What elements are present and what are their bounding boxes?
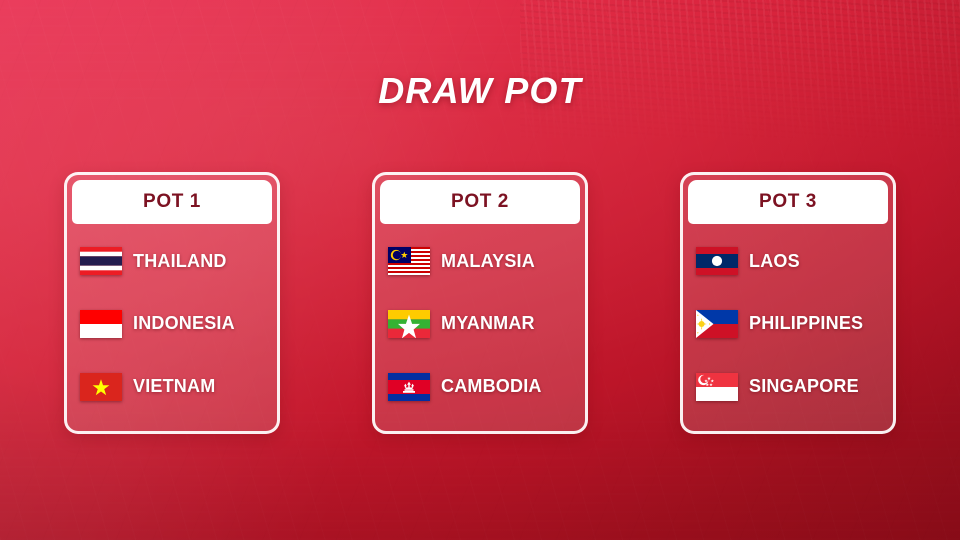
team-row: INDONESIA	[80, 301, 272, 347]
team-name: INDONESIA	[133, 313, 235, 334]
pot-card: POT 1 THAILAND INDONESIA VIETNAM	[64, 172, 280, 434]
slide-stage: DRAW POT POT 1 THAILAND INDONESIA VIETNA…	[0, 0, 960, 540]
pot-list: POT 1 THAILAND INDONESIA VIETNAMPOT 2	[0, 172, 960, 434]
pot-card: POT 2 MALAYSIA MYANMAR	[372, 172, 588, 434]
page-title: DRAW POT	[0, 70, 960, 112]
flag-indonesia-icon	[80, 310, 122, 338]
team-row: MYANMAR	[388, 301, 580, 347]
team-row: VIETNAM	[80, 364, 272, 410]
team-name: MALAYSIA	[441, 251, 535, 272]
flag-cambodia-icon	[388, 373, 430, 401]
flag-myanmar-icon	[388, 310, 430, 338]
flag-malaysia-icon	[388, 247, 430, 275]
flag-philippines-icon	[696, 310, 738, 338]
pot-team-list: LAOS PHILIPPINES	[688, 224, 888, 426]
team-name: SINGAPORE	[749, 376, 859, 397]
team-name: CAMBODIA	[441, 376, 542, 397]
flag-laos-icon	[696, 247, 738, 275]
pot-header: POT 3	[688, 180, 888, 224]
flag-thailand-icon	[80, 247, 122, 275]
team-name: PHILIPPINES	[749, 313, 863, 334]
pot-header: POT 1	[72, 180, 272, 224]
team-name: THAILAND	[133, 251, 227, 272]
team-name: VIETNAM	[133, 376, 215, 397]
flag-vietnam-icon	[80, 373, 122, 401]
team-row: CAMBODIA	[388, 364, 580, 410]
flag-singapore-icon	[696, 373, 738, 401]
pot-team-list: THAILAND INDONESIA VIETNAM	[72, 224, 272, 426]
team-row: THAILAND	[80, 238, 272, 284]
team-name: LAOS	[749, 251, 800, 272]
pot-card: POT 3 LAOS PHILIPPINES	[680, 172, 896, 434]
pot-team-list: MALAYSIA MYANMAR CAMBODIA	[380, 224, 580, 426]
team-name: MYANMAR	[441, 313, 535, 334]
team-row: LAOS	[696, 238, 888, 284]
team-row: SINGAPORE	[696, 364, 888, 410]
team-row: PHILIPPINES	[696, 301, 888, 347]
team-row: MALAYSIA	[388, 238, 580, 284]
pot-header: POT 2	[380, 180, 580, 224]
